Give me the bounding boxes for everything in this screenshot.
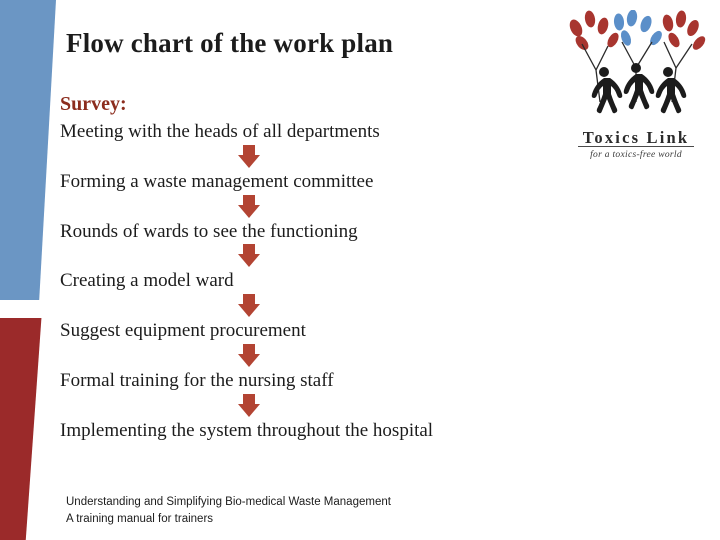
logo-divider — [578, 146, 694, 147]
flow-step-1: Meeting with the heads of all department… — [60, 120, 560, 144]
survey-label: Survey: — [60, 92, 560, 116]
down-arrow-icon — [238, 145, 260, 169]
band-red-shape — [0, 318, 56, 540]
flow-step-6: Formal training for the nursing staff — [60, 369, 560, 393]
logo-tree-figures-icon — [560, 10, 712, 130]
flow-arrow-5-row — [60, 343, 560, 369]
toxics-link-logo: Toxics Link for a toxics-free world — [560, 10, 712, 185]
page-title: Flow chart of the work plan — [66, 28, 546, 59]
flow-step-7: Implementing the system throughout the h… — [60, 419, 500, 443]
down-arrow-icon — [238, 294, 260, 318]
slide: Flow chart of the work plan Survey: Meet… — [0, 0, 720, 540]
flow-step-3: Rounds of wards to see the functioning — [60, 220, 560, 244]
left-decorative-band — [0, 0, 56, 540]
footer-note: Understanding and Simplifying Bio-medica… — [66, 494, 536, 527]
down-arrow-icon — [238, 244, 260, 268]
footer-note-line2: A training manual for trainers — [66, 511, 536, 528]
flow-arrow-4-row — [60, 293, 560, 319]
flow-step-2: Forming a waste management committee — [60, 170, 560, 194]
flow-chart-content: Survey: Meeting with the heads of all de… — [60, 92, 560, 442]
logo-name: Toxics Link — [560, 128, 712, 148]
down-arrow-icon — [238, 344, 260, 368]
flow-arrow-6-row — [60, 393, 560, 419]
down-arrow-icon — [238, 195, 260, 219]
band-blue-shape — [0, 0, 56, 320]
footer-note-line1: Understanding and Simplifying Bio-medica… — [66, 494, 536, 511]
flow-step-5: Suggest equipment procurement — [60, 319, 560, 343]
flow-step-4: Creating a model ward — [60, 269, 560, 293]
flow-arrow-1-row — [60, 144, 560, 170]
logo-tagline: for a toxics-free world — [560, 150, 712, 160]
flow-arrow-3-row — [60, 243, 560, 269]
flow-arrow-2-row — [60, 194, 560, 220]
down-arrow-icon — [238, 394, 260, 418]
